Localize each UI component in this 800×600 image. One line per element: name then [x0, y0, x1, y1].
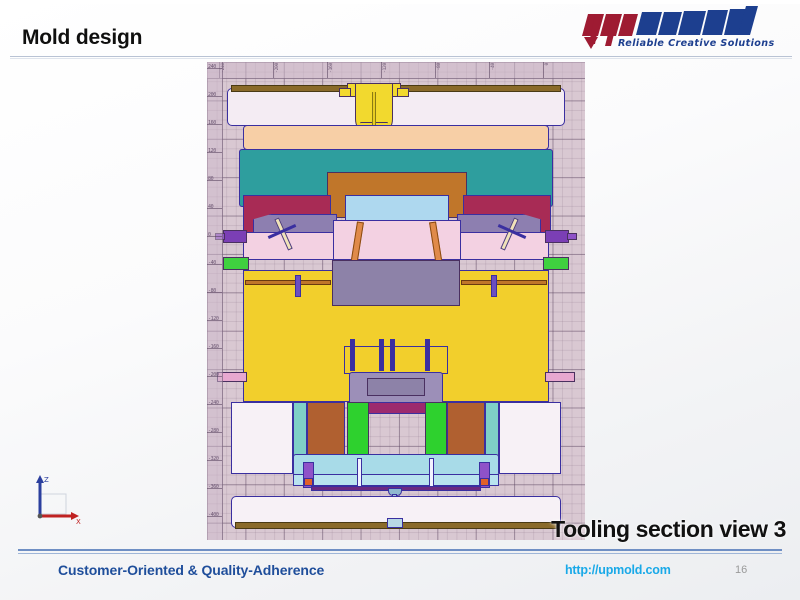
part-ejector-plate — [293, 454, 499, 476]
part-side-cylinder-right — [545, 230, 569, 243]
svg-text:Reliable Creative Solutions: Reliable Creative Solutions — [618, 38, 775, 49]
part-rail-bolt-right — [491, 275, 497, 297]
part-rail-bolt-left — [295, 275, 301, 297]
part-ejector-rod-1 — [357, 458, 362, 488]
part-knockout-flange — [387, 518, 403, 528]
part-spacer-block-left — [307, 402, 345, 460]
part-ejector-rod-2 — [429, 458, 434, 488]
part-guide-pillar-right — [425, 402, 447, 460]
part-ejector-pin-3 — [390, 339, 395, 371]
part-rail-left — [245, 280, 331, 285]
part-side-block-green-right — [543, 257, 569, 270]
part-side-cylinder-left — [223, 230, 247, 243]
part-ejector-pin-2 — [379, 339, 384, 371]
part-ejector-bolt-head-right — [480, 478, 489, 486]
part-rail-right — [461, 280, 547, 285]
slide-header: Mold design — [0, 0, 800, 58]
axis-z-label: Z — [44, 476, 49, 484]
footer-url[interactable]: http://upmold.com — [565, 563, 671, 577]
header-divider-secondary — [10, 58, 792, 59]
axis-x-label: X — [76, 518, 81, 526]
ruler-left: 240 200 160 120 80 40 0 -40 -80 -120 -16… — [207, 62, 223, 540]
upmold-logo: Reliable Creative Solutions — [578, 4, 778, 52]
part-lower-insert-core — [367, 378, 425, 396]
part-sprue-shoulder-left — [339, 88, 351, 97]
part-core-pocket — [345, 195, 449, 223]
cad-viewport[interactable]: -240 -200 -160 -120 -80 -40 0 240 200 16… — [207, 62, 585, 540]
footer-divider — [18, 549, 782, 551]
logo-graphic: Reliable Creative Solutions — [578, 4, 778, 52]
part-column-right — [485, 402, 499, 460]
axis-triad: Z X — [26, 472, 86, 528]
page-number: 16 — [735, 564, 747, 576]
part-ejector-retainer — [293, 474, 499, 486]
part-ejector-pin-4 — [425, 339, 430, 371]
slide-root: Mold design — [0, 0, 800, 600]
ruler-top: -240 -200 -160 -120 -80 -40 0 — [207, 62, 585, 79]
part-sprue-shoulder-right — [397, 88, 409, 97]
part-side-cylinder-right-rod — [567, 233, 577, 240]
footer-slogan: Customer-Oriented & Quality-Adherence — [58, 562, 324, 578]
page-title: Mold design — [22, 27, 142, 48]
part-side-block-green-left — [223, 257, 249, 270]
part-ejector-pin-1 — [350, 339, 355, 371]
part-side-pin-right — [545, 372, 575, 382]
part-ejector-bar — [344, 346, 448, 374]
part-column-left — [293, 402, 307, 460]
header-divider — [10, 56, 792, 57]
part-side-base-left — [231, 402, 293, 474]
part-side-base-right — [499, 402, 561, 474]
part-cavity-backing-plate — [243, 125, 549, 150]
part-guide-pillar-left — [347, 402, 369, 460]
footer-divider-secondary — [18, 553, 782, 554]
part-center-grey-block — [332, 260, 460, 306]
part-ejector-bolt-head-left — [304, 478, 313, 486]
view-caption: Tooling section view 3 — [551, 518, 786, 541]
part-spacer-block-right — [447, 402, 485, 460]
